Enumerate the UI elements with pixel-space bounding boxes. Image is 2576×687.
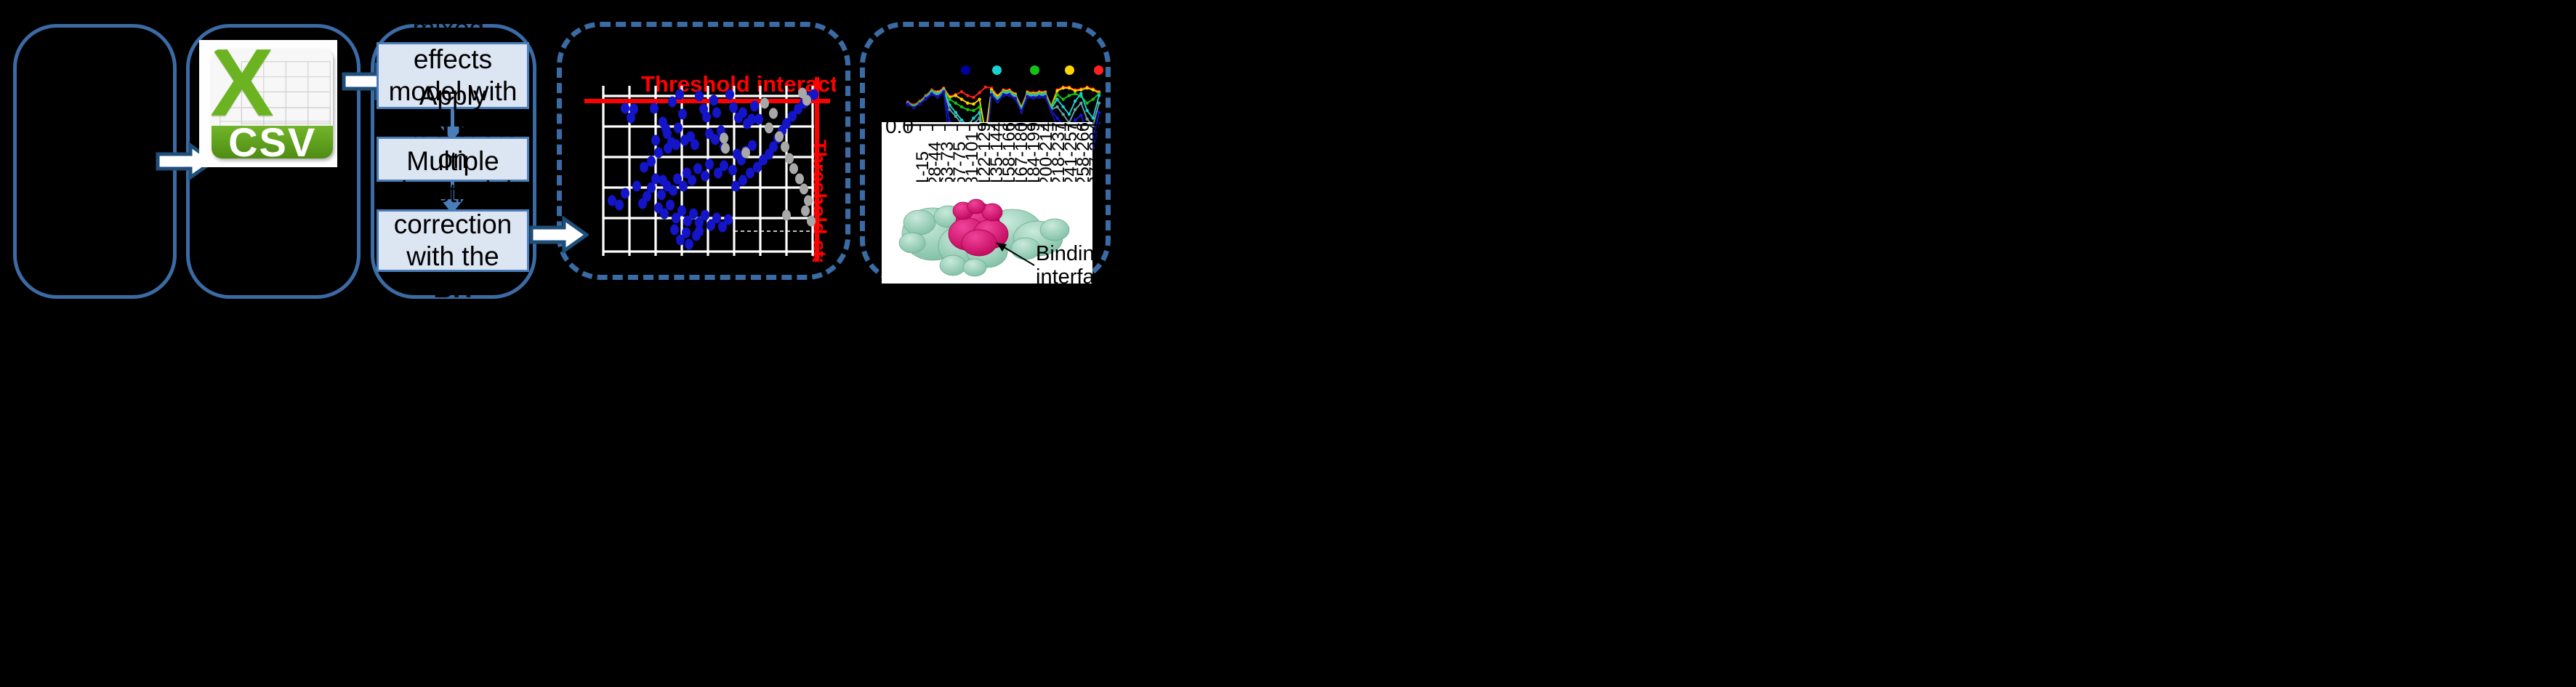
pipeline-figure: X CSV Fit a linear mixed- effects model … [0, 0, 2576, 687]
csv-card: X CSV [212, 49, 333, 158]
input-panel [13, 24, 177, 299]
legend-dot-3 [1030, 65, 1039, 75]
chart-data-point [1085, 87, 1088, 89]
chart-data-point [1055, 105, 1058, 108]
chart-data-point [942, 91, 945, 94]
chart-data-point [1074, 92, 1076, 95]
csv-letter-x: X [214, 49, 270, 116]
chart-data-point [978, 97, 981, 100]
chart-data-point [1062, 87, 1065, 89]
chart-data-point [1085, 102, 1088, 105]
chart-data-point [966, 108, 969, 111]
chart-data-point [1055, 89, 1058, 92]
chart-data-point [1055, 93, 1058, 96]
chart-data-point [912, 106, 915, 109]
chart-data-point [1062, 113, 1065, 116]
chart-data-point [996, 100, 999, 103]
chart-data-point [948, 108, 951, 111]
chart-data-point [1085, 109, 1088, 112]
chart-data-point [1098, 111, 1100, 114]
chart-data-point [1074, 100, 1076, 103]
chart-data-point [1068, 94, 1071, 97]
chart-data-point [930, 93, 933, 96]
chart-data-point [1074, 108, 1076, 111]
chart-data-point [1085, 118, 1088, 121]
chart-data-point [966, 94, 969, 97]
chart-data-point [978, 105, 981, 108]
chart-data-point [954, 115, 957, 118]
csv-label: CSV [228, 118, 316, 158]
chart-data-point [960, 105, 963, 108]
chart-data-point [960, 90, 963, 93]
chart-data-point [1020, 111, 1023, 114]
chart-data-point [1008, 94, 1011, 97]
chart-data-point [978, 116, 981, 119]
chart-data-point [1092, 97, 1095, 100]
chart-data-point [1079, 88, 1082, 91]
chart-data-point [1062, 105, 1065, 108]
chart-data-point [1074, 89, 1076, 92]
chart-data-point [1074, 118, 1076, 121]
chart-data-point [1026, 96, 1029, 99]
chart-data-point [1044, 96, 1047, 99]
legend-dot-5 [1094, 65, 1103, 75]
chart-data-point [1062, 97, 1065, 100]
chart-data-point [978, 111, 981, 114]
chart-data-point [1079, 102, 1082, 105]
chart-data-point [1079, 113, 1082, 116]
chart-data-point [972, 116, 975, 119]
legend-dot-4 [1065, 65, 1074, 75]
legend-dot-1 [961, 65, 970, 75]
chart-data-point [984, 86, 987, 89]
protein-surface-structure: Bindinginterface [882, 182, 1092, 284]
threshold-scatter-plot: Threshold interaction Threshold state [574, 44, 836, 262]
chart-data-point [1014, 97, 1017, 100]
chart-data-point [990, 94, 993, 97]
chart-data-point [1031, 97, 1034, 100]
chart-data-point [936, 96, 939, 99]
chart-data-point [1079, 92, 1082, 95]
step-bh-text: Multiple testing correction with the BH … [386, 145, 520, 336]
chart-data-point [1038, 96, 1041, 99]
chart-data-point [954, 94, 957, 97]
chart-data-point [918, 103, 921, 105]
csv-file-icon: X CSV [199, 40, 337, 167]
legend-dot-2 [992, 65, 1002, 75]
csv-label-band: CSV [212, 126, 333, 158]
chart-data-point [1055, 97, 1058, 100]
step-bh-box[interactable]: Multiple testing correction with the BH … [377, 209, 529, 272]
chart-data-point [1055, 116, 1058, 119]
chart-data-point [972, 109, 975, 112]
chart-data-point [954, 111, 957, 114]
chart-data-point [954, 102, 957, 105]
x-tick-label: 277-284 [1086, 122, 1106, 186]
chart-data-point [1050, 110, 1052, 113]
chart-data-point [960, 118, 963, 121]
y-axis-value-label: 0.0 [885, 115, 914, 138]
chart-data-point [972, 96, 975, 99]
chart-data-point [1002, 94, 1005, 97]
chart-data-point [1098, 102, 1100, 105]
chart-data-point [1098, 94, 1100, 97]
chart-data-point [972, 103, 975, 105]
chart-data-point [978, 91, 981, 94]
chart-data-point [906, 103, 909, 106]
scatter-canvas [574, 44, 836, 262]
chart-data-point [960, 97, 963, 100]
chart-data-point [1092, 88, 1095, 91]
chart-data-point [1068, 113, 1071, 116]
chart-data-point [925, 97, 927, 100]
binding-interface-annotation: Bindinginterface [1036, 243, 1092, 284]
chart-data-point [1068, 87, 1071, 89]
chart-data-point [966, 102, 969, 105]
